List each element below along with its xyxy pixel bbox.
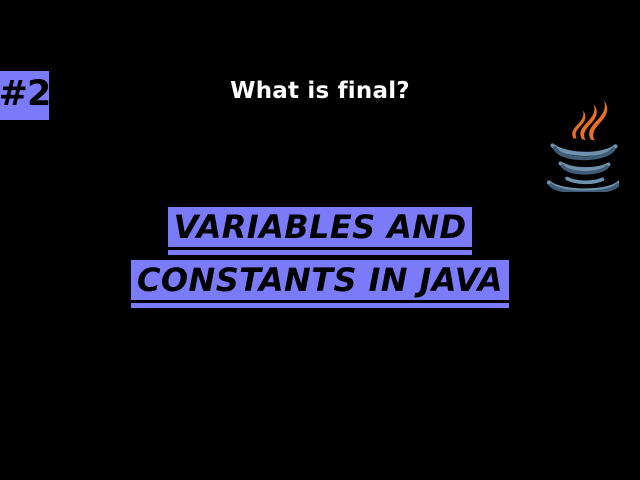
headline-line-2-text: CONSTANTS IN JAVA	[131, 260, 509, 300]
headline-line-1-text: VARIABLES AND	[168, 207, 473, 247]
headline-row: CONSTANTS IN JAVA	[0, 260, 640, 308]
java-logo	[543, 88, 619, 192]
java-cup-icon	[549, 146, 619, 193]
headline-line-1-underline	[168, 250, 473, 255]
headline-row: VARIABLES AND	[0, 207, 640, 255]
slide-canvas: #2 What is final? VARIABL	[0, 0, 640, 480]
java-steam-icon	[572, 100, 607, 140]
headline-line-1: VARIABLES AND	[168, 207, 473, 255]
headline-block: VARIABLES AND CONSTANTS IN JAVA	[0, 207, 640, 313]
headline-line-2: CONSTANTS IN JAVA	[131, 260, 509, 308]
headline-line-2-underline	[131, 303, 509, 308]
